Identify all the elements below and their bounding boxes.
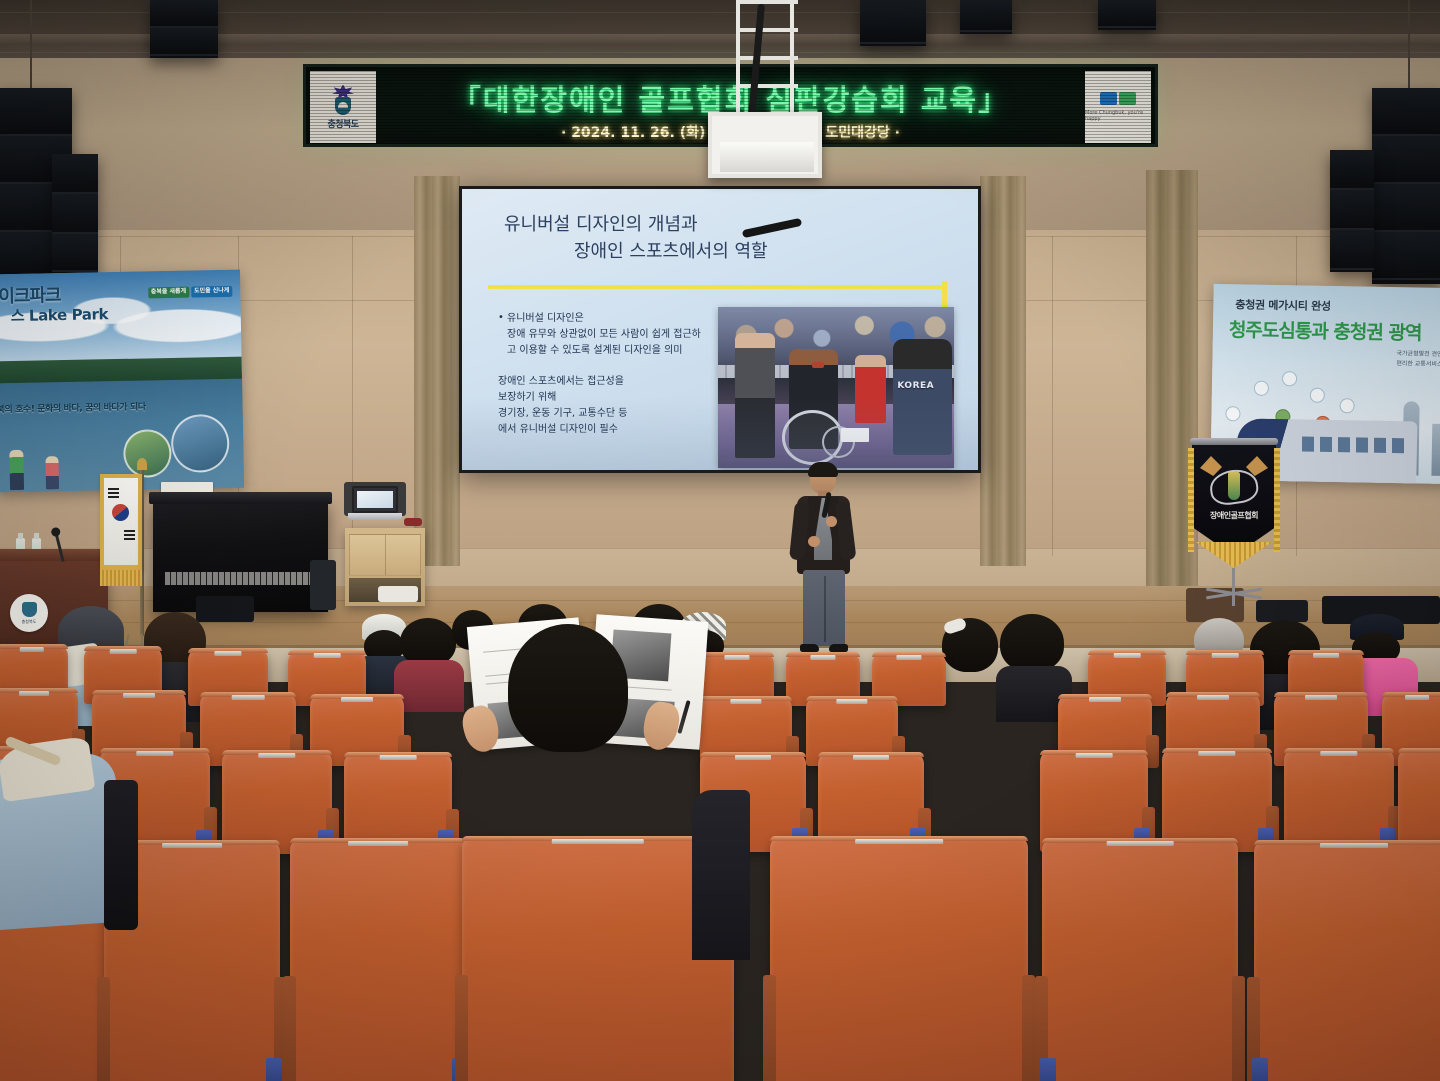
slogan-subtext: More Chungbuk, you're happy (1085, 110, 1151, 122)
network-node (1282, 371, 1297, 386)
banner-slogan-chip-2: 도민을 신나게 (191, 286, 232, 297)
photo-korea-jersey-athlete (893, 339, 952, 455)
laptop[interactable] (348, 486, 402, 526)
cabinet-doors (349, 534, 421, 576)
seat-number-plate (1305, 695, 1337, 700)
slide-photo: KOREA (718, 307, 954, 468)
seat-frame (763, 975, 776, 1081)
seat-number-plate (1320, 843, 1388, 848)
led-banner-venue: 도민대강당 · (825, 122, 900, 142)
pennant-label: 장애인골프협회 (1192, 510, 1276, 521)
banner-right-subtext: 국가균형발전 견인 / 편리한 교통서비스 / (1396, 349, 1440, 370)
piano-lid (149, 492, 332, 504)
seat-side-panel (1252, 1058, 1268, 1081)
attendee-head (400, 618, 456, 666)
flag-fringe (100, 570, 142, 586)
photo-red-shirt-person (855, 355, 886, 423)
led-logo-label: 충청북도 (327, 117, 358, 130)
skyline-building (1431, 424, 1440, 476)
slide-bullet-2-line1: 장애인 스포츠에서는 접근성을 (498, 376, 624, 387)
desk-item (404, 518, 422, 526)
led-banner-date: · 2024. 11. 26. (화) (561, 122, 705, 142)
slide-bullet-1: 유니버설 디자인은 장애 유무와 상관없이 모든 사람이 쉽게 접근하고 이용할… (498, 311, 704, 360)
lake-park-banner: 이크파크 스 Lake Park 북의 호수! 문화의 바다, 꿈의 바다가 되… (0, 270, 244, 493)
seat-number-plate (1089, 697, 1121, 702)
slide-bullet-2-line4: 에서 유니버설 디자인이 필수 (498, 424, 618, 435)
slide-title-line1: 유니버설 디자인의 개념과 (504, 214, 698, 235)
lectern-emblem-label: 충청북도 (22, 619, 37, 625)
seat-number-plate (836, 699, 867, 704)
slide-bullet-1-head: 유니버설 디자인은 (507, 313, 584, 324)
line-array-speaker-right-inner (1330, 150, 1374, 272)
presenter-shoe-right (829, 644, 848, 652)
seat-frame (283, 976, 296, 1081)
projector-unit (720, 142, 814, 172)
network-node (1254, 381, 1269, 396)
seat-number-plate (1212, 653, 1239, 658)
seat-number-plate (810, 655, 835, 660)
led-banner-left-logo: 충청북도 (310, 71, 376, 143)
ceiling-speaker-right-far (1098, 0, 1156, 30)
projector-housing (708, 112, 822, 178)
presenter-shoe-left (800, 644, 819, 652)
slide-title: 유니버설 디자인의 개념과 장애인 스포츠에서의 역할 (504, 211, 952, 265)
presenter (788, 464, 860, 652)
seat-number-plate (896, 655, 921, 660)
photo-bib-number (841, 428, 869, 442)
seat-number-plate (232, 695, 265, 700)
banner-slogan-chip-1: 충북을 새롭게 (148, 287, 189, 298)
seat-frame (1232, 976, 1245, 1081)
seat-number-plate (1405, 695, 1429, 700)
seat-frame (455, 975, 468, 1081)
banner-right-sub2: 편리한 교통서비스 / (1396, 360, 1440, 368)
seat-number-plate (380, 755, 417, 760)
presenter-hand-left (808, 536, 820, 547)
slide-divider (488, 285, 946, 289)
scissor-lift-frame (736, 0, 794, 118)
slide-content: 유니버설 디자인의 개념과 장애인 스포츠에서의 역할 유니버설 디자인은 장애… (462, 189, 978, 470)
seat-number-plate (162, 843, 222, 848)
seat-number-plate (341, 697, 373, 702)
taeguk-circle-icon (112, 504, 129, 521)
seat-number-plate (730, 699, 761, 704)
seat-number-plate (110, 649, 137, 654)
seat-number-plate (1320, 751, 1357, 756)
pennant-fringe-bottom (1196, 542, 1272, 568)
province-slogan-icon (1100, 92, 1136, 105)
banner-right-headline: 청주도심통과 충청권 광역 (1229, 315, 1422, 345)
line-array-speaker-left-inner (52, 154, 98, 274)
slogan-chip-1 (1100, 92, 1117, 105)
presenter-hand-right (826, 516, 837, 527)
pennant-laurel-left-icon (1200, 456, 1222, 476)
seat-side-panel (1040, 1058, 1056, 1081)
banner-left-slogan: 충북을 새롭게 도민을 신나게 (148, 286, 233, 298)
attendee (398, 618, 458, 694)
banner-right-sub1: 국가균형발전 견인 / (1396, 350, 1440, 358)
photo-coach (735, 333, 775, 459)
seat-number-plate (1197, 695, 1229, 700)
seat-number-plate (735, 755, 771, 760)
banner-person-2 (45, 456, 59, 489)
banner-person-1 (9, 450, 24, 490)
province-emblem-icon (22, 602, 37, 617)
seat-number-plate (136, 751, 173, 756)
pennant-fringe-left (1188, 448, 1194, 552)
piano-keys (165, 572, 315, 585)
laptop-screen (352, 486, 398, 513)
ceiling-speaker-center-left (150, 0, 218, 58)
wall-seam (1052, 236, 1053, 556)
speaker-cable (1408, 0, 1410, 90)
slide-bullet-2-line3: 경기장, 운동 기구, 교통수단 등 (498, 408, 627, 419)
slogan-chip-2 (1119, 92, 1136, 105)
attendee (940, 618, 1000, 696)
seat[interactable] (290, 838, 466, 1081)
network-node (1225, 406, 1240, 421)
seat-number-plate (123, 693, 155, 698)
flag-cloth (100, 474, 142, 570)
chungcheongbuk-emblem-icon (330, 85, 356, 115)
photo-jersey-text: KOREA (897, 381, 934, 391)
seat-number-plate (214, 651, 241, 656)
slide-body-text: 유니버설 디자인은 장애 유무와 상관없이 모든 사람이 쉽게 접근하고 이용할… (498, 311, 704, 438)
pennant-crossbar (1190, 438, 1278, 445)
pennant-golf-icon (1228, 472, 1240, 500)
attendee-head (1000, 614, 1064, 672)
seat[interactable] (1284, 748, 1394, 852)
seat-number-plate (20, 647, 44, 652)
pennant-stand-pole (1232, 568, 1235, 606)
slide-bullet-1-body: 장애 유무와 상관없이 모든 사람이 쉽게 접근하고 이용할 수 있도록 설계된… (507, 327, 704, 359)
seat-number-plate (724, 655, 749, 660)
golf-association-pennant: 장애인골프협회 (1186, 434, 1282, 606)
pennant-body: 장애인골프협회 (1192, 444, 1276, 556)
ceiling-speaker-center (860, 0, 926, 46)
stage-drape-left (414, 176, 460, 566)
attendee-shoulder (104, 780, 138, 930)
attendee (1000, 614, 1066, 700)
attendee-arm-foreground (692, 790, 750, 960)
ceiling-projector-lift (706, 0, 824, 182)
network-node (1339, 398, 1354, 413)
seat[interactable] (770, 836, 1028, 1081)
auditorium-scene: 충청북도 「대한장애인 골프협회 심판강습회 교육」 · 2024. 11. 2… (0, 0, 1440, 1081)
cable-coil (310, 560, 336, 610)
seat[interactable] (1040, 750, 1148, 852)
seat-number-plate (1107, 841, 1174, 846)
projection-screen: 유니버설 디자인의 개념과 장애인 스포츠에서의 역할 유니버설 디자인은 장애… (459, 186, 981, 473)
attendee-reading (508, 624, 630, 754)
seat-frame (1022, 975, 1035, 1081)
photo-athlete-shout (812, 362, 824, 368)
seat-number-plate (1198, 751, 1235, 756)
seat-number-plate (258, 753, 295, 758)
ceiling-speaker-center-right (960, 0, 1012, 34)
pennant-fringe-right (1274, 448, 1280, 552)
seat-number-plate (1313, 653, 1339, 658)
shelf-paper (378, 586, 418, 602)
seat-frame (97, 977, 110, 1081)
seat-number-plate (19, 691, 49, 696)
attendee-head (508, 624, 628, 752)
seat-number-plate (348, 841, 408, 846)
laptop-keyboard[interactable] (348, 513, 402, 520)
seat-number-plate (552, 839, 644, 844)
seat-number-plate (853, 755, 889, 760)
seat[interactable] (1042, 838, 1238, 1081)
banner-right-eyebrow: 충청권 메가시티 완성 (1235, 296, 1331, 314)
speaker-cable (30, 0, 32, 90)
slide-divider-tick (942, 281, 947, 307)
seat-number-plate (314, 653, 341, 658)
seat[interactable] (1254, 840, 1440, 1081)
seat-number-plate (855, 839, 943, 844)
presenter-trousers (803, 570, 845, 646)
slide-bullet-2: 장애인 스포츠에서는 접근성을 보장하기 위해 경기장, 운동 기구, 교통수단… (498, 374, 704, 439)
banner-left-people (5, 434, 96, 490)
line-array-speaker-right (1372, 88, 1440, 284)
seat[interactable] (1162, 748, 1272, 852)
slide-title-line2: 장애인 스포츠에서의 역할 (504, 238, 952, 265)
stage-drape-right (980, 176, 1026, 566)
slide-bullet-2-line2: 보장하기 위해 (498, 392, 556, 403)
led-banner-right-logo: More Chungbuk, you're happy (1085, 71, 1151, 143)
presenter-hair (808, 462, 838, 477)
seat-number-plate (1114, 653, 1141, 658)
seat-number-plate (1076, 753, 1113, 758)
network-node (1310, 388, 1325, 403)
seat-side-panel (266, 1058, 282, 1081)
banner-left-subtitle: 스 Lake Park (11, 303, 109, 326)
seat[interactable] (1398, 748, 1440, 852)
